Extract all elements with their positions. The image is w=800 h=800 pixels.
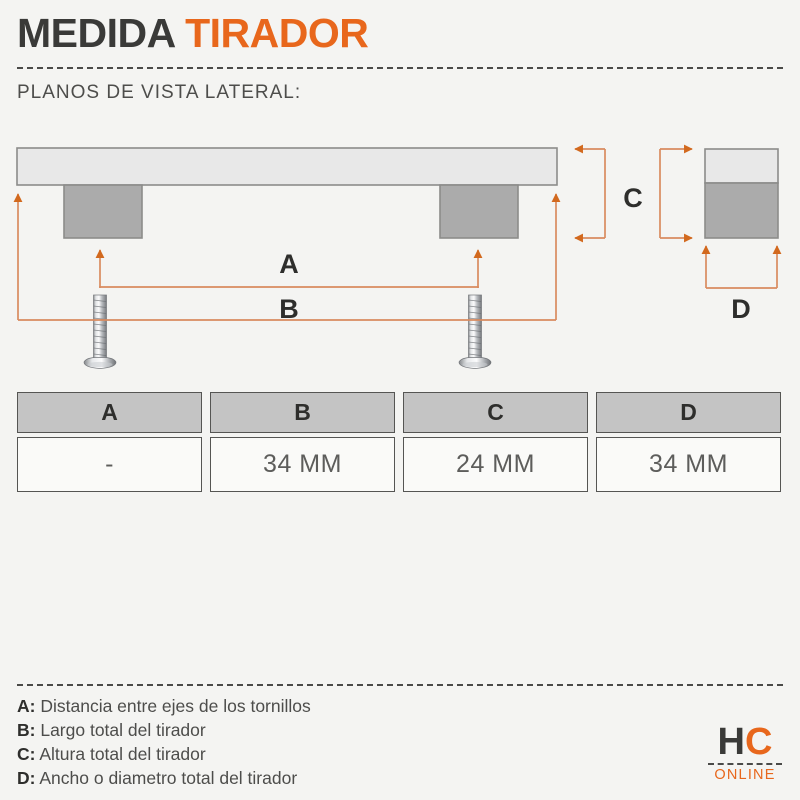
- legend-item-d: D: Ancho o diametro total del tirador: [17, 766, 617, 790]
- table-column-c: C 24 MM: [403, 392, 588, 492]
- table-column-a: A -: [17, 392, 202, 492]
- legend-key-c: C:: [17, 744, 35, 764]
- dimension-b-label: B: [279, 294, 299, 324]
- handle-left-leg: [64, 185, 142, 238]
- table-value-d: 34 MM: [596, 437, 781, 492]
- logo-divider: [708, 763, 782, 765]
- legend-key-b: B:: [17, 720, 35, 740]
- legend-text-b: Largo total del tirador: [40, 720, 205, 740]
- legend-item-c: C: Altura total del tirador: [17, 742, 617, 766]
- dimension-d-label: D: [731, 294, 751, 324]
- title-dark-part: MEDIDA: [17, 10, 174, 56]
- measurement-sheet: MEDIDA TIRADOR PLANOS DE VISTA LATERAL:: [0, 0, 800, 800]
- table-value-b: 34 MM: [210, 437, 395, 492]
- handle-right-leg: [440, 185, 518, 238]
- table-header-a: A: [17, 392, 202, 433]
- legend-item-b: B: Largo total del tirador: [17, 718, 617, 742]
- table-column-d: D 34 MM: [596, 392, 781, 492]
- logo-letter-h: H: [718, 721, 745, 763]
- table-header-b: B: [210, 392, 395, 433]
- subtitle: PLANOS DE VISTA LATERAL:: [17, 82, 301, 104]
- brand-logo: HC ONLINE: [705, 722, 785, 783]
- legend: A: Distancia entre ejes de los tornillos…: [17, 694, 617, 790]
- dimension-d: [706, 246, 777, 288]
- title-accent-part: TIRADOR: [185, 10, 368, 56]
- handle-bar: [17, 148, 557, 185]
- logo-subtitle: ONLINE: [705, 767, 785, 783]
- legend-key-a: A:: [17, 696, 35, 716]
- dimension-a-label: A: [279, 249, 299, 279]
- table-value-c: 24 MM: [403, 437, 588, 492]
- technical-drawing: A B C D: [0, 128, 800, 383]
- screw-right: [459, 295, 491, 369]
- legend-text-c: Altura total del tirador: [39, 744, 205, 764]
- screw-left: [84, 295, 116, 369]
- table-header-d: D: [596, 392, 781, 433]
- legend-key-d: D:: [17, 768, 35, 788]
- table-column-b: B 34 MM: [210, 392, 395, 492]
- divider-bottom: [17, 684, 783, 686]
- logo-wordmark: HC: [705, 722, 785, 762]
- page-title: MEDIDA TIRADOR: [17, 8, 368, 58]
- table-header-c: C: [403, 392, 588, 433]
- table-value-a: -: [17, 437, 202, 492]
- legend-text-a: Distancia entre ejes de los tornillos: [40, 696, 310, 716]
- dimension-c-label: C: [623, 183, 643, 213]
- logo-letter-c: C: [745, 721, 772, 763]
- legend-item-a: A: Distancia entre ejes de los tornillos: [17, 694, 617, 718]
- measurements-table: A - B 34 MM C 24 MM D 34 MM: [17, 392, 783, 492]
- legend-text-d: Ancho o diametro total del tirador: [39, 768, 297, 788]
- handle-end-view: [705, 149, 778, 238]
- divider-top: [17, 67, 783, 69]
